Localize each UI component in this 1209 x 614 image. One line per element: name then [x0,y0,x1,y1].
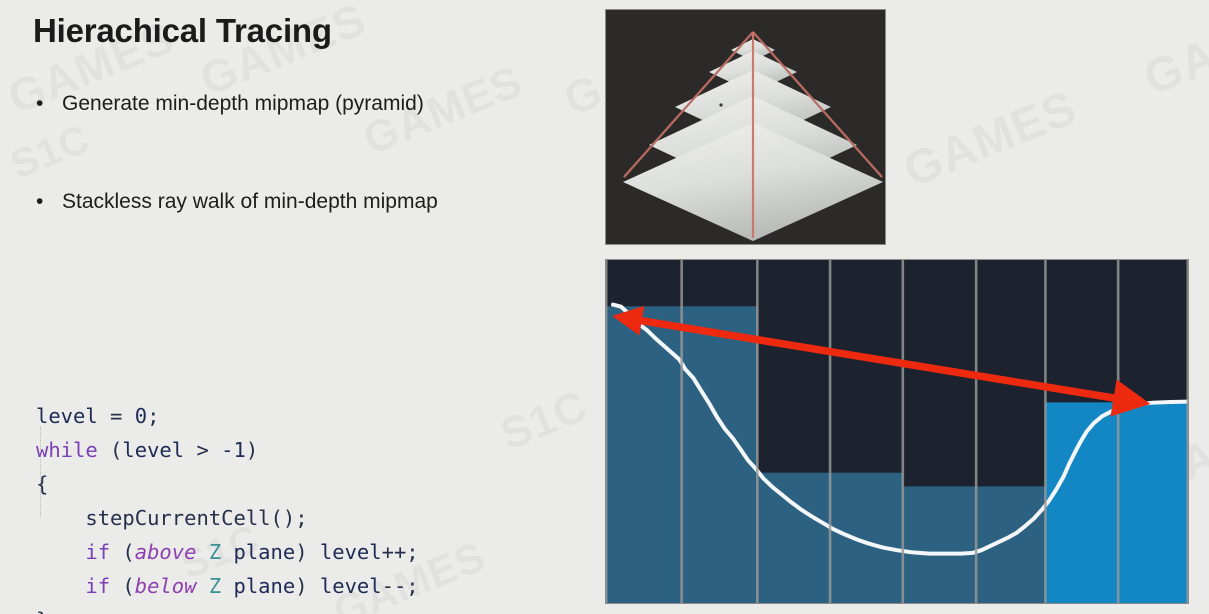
watermark-text: S1C [494,381,595,461]
code-token: ( [110,540,135,564]
code-line: if (above Z plane) level++; [36,535,419,569]
pyramid-canvas [606,10,885,244]
code-token: if [85,574,110,598]
code-token [36,574,85,598]
mipmap-cell-fill-7 [1045,402,1118,603]
code-token: ; [147,404,159,428]
code-token [196,540,208,564]
code-token: ) [295,574,320,598]
code-token: { [36,472,48,496]
code-token: ) [246,438,258,462]
mipmap-cell-fill-6 [976,486,1045,603]
code-token: above [135,540,197,564]
bullet-text: Stackless ray walk of min-depth mipmap [62,190,438,214]
code-token: Z [209,540,221,564]
code-token: ) [295,540,320,564]
bullet-text: Generate min-depth mipmap (pyramid) [62,92,424,116]
code-token: plane [221,540,295,564]
code-token: Z [209,574,221,598]
code-line: stepCurrentCell(); [36,501,419,535]
code-token: ( [98,438,123,462]
code-token: level [320,540,382,564]
bullet-item: • Generate min-depth mipmap (pyramid) [36,92,424,116]
code-token: = [98,404,135,428]
code-token [36,506,85,530]
watermark-text: GAMES [1136,0,1209,107]
code-token: -1 [221,438,246,462]
code-token: while [36,438,98,462]
code-token: if [85,540,110,564]
code-line: if (below Z plane) level--; [36,569,419,603]
mipmap-cell-fill-4 [830,473,903,603]
code-token: --; [382,574,419,598]
code-token: > [184,438,221,462]
mipmap-ray-walk-figure [606,260,1188,603]
code-token: level [122,438,184,462]
code-token: (); [271,506,308,530]
code-token: ( [110,574,135,598]
bullet-marker: • [36,191,62,212]
mipmap-pyramid-figure [606,10,885,244]
code-block: level = 0;while (level > -1){ stepCurren… [36,297,419,614]
watermark-text: GAMES [896,80,1084,199]
code-token: ++; [382,540,419,564]
bullet-item: • Stackless ray walk of min-depth mipmap [36,190,438,214]
code-token: below [135,574,197,598]
surface-speck [719,103,722,106]
pyramid-front-edges [624,32,882,238]
watermark-text: S1C [5,117,97,189]
mipmap-cell-fill-5 [903,486,976,603]
code-token: 0 [135,404,147,428]
mipmap-cell-fill-8 [1118,402,1188,603]
code-line: { [36,467,419,501]
bullet-marker: • [36,93,62,114]
code-token [196,574,208,598]
code-token: stepCurrentCell [85,506,270,530]
code-line: level = 0; [36,399,419,433]
mipmap-cell-fill-3 [757,473,830,603]
code-line: } [36,603,419,614]
code-token [36,540,85,564]
code-token: level [36,404,98,428]
mipmap-canvas [606,260,1188,603]
code-token: } [36,608,48,614]
code-token: plane [221,574,295,598]
slide: GAMESGAMESGAMESGAMESGAMESGAMESS1CS1CS1CG… [0,0,1209,614]
code-token: level [320,574,382,598]
page-title: Hierachical Tracing [33,12,332,50]
code-line: while (level > -1) [36,433,419,467]
